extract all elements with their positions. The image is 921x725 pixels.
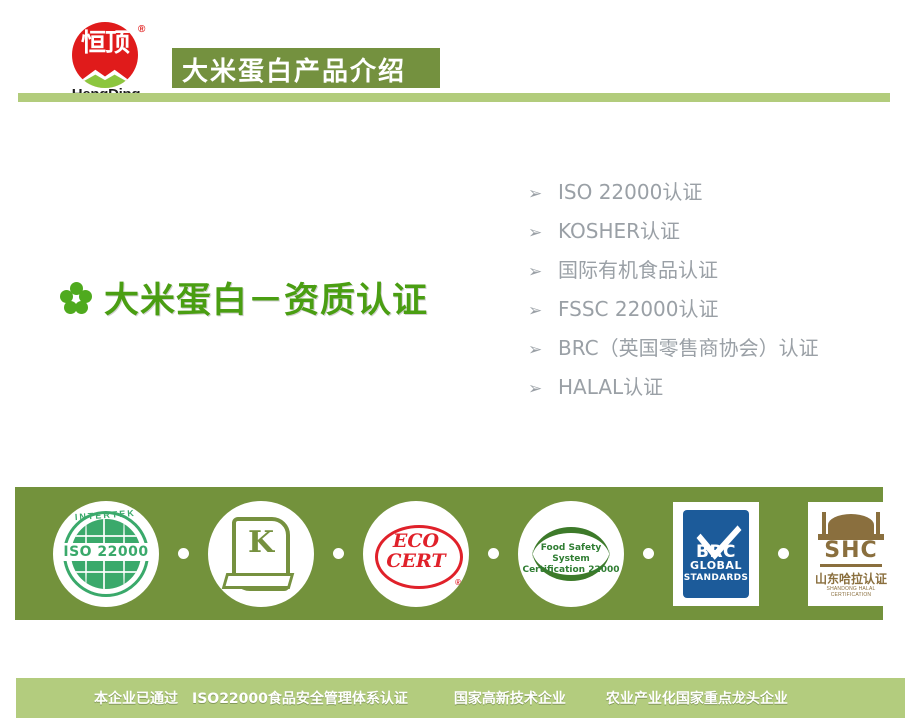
- section-heading-label: 大米蛋白－资质认证: [104, 272, 428, 323]
- brc-text: BRC GLOBAL STANDARDS: [683, 546, 749, 585]
- ecocert-line1: ECO: [363, 531, 469, 551]
- certification-list: ➢ ISO 22000认证 ➢ KOSHER认证 ➢ 国际有机食品认证 ➢ FS…: [528, 176, 819, 410]
- mosque-dome-icon: [828, 514, 874, 536]
- list-item: ➢ 国际有机食品认证: [528, 254, 819, 293]
- slide-footer: 本企业已通过 ISO22000食品安全管理体系认证 国家高新技术企业 农业产业化…: [16, 678, 905, 718]
- ecocert-line2: CERT: [363, 551, 469, 571]
- list-item: ➢ ISO 22000认证: [528, 176, 819, 215]
- registered-mark-icon: ®: [138, 24, 145, 35]
- iso-22000-badge-icon: INTERTEK ISO 22000: [53, 501, 159, 607]
- list-item: ➢ BRC（英国零售商协会）认证: [528, 332, 819, 371]
- kosher-base-bar: [222, 573, 295, 589]
- header-divider: [18, 93, 890, 102]
- fssc-line2: Certification 22000: [522, 565, 620, 576]
- minaret-left-icon: [822, 512, 826, 536]
- footer-text-1: 本企业已通过: [94, 688, 178, 708]
- list-item-label: ISO 22000认证: [558, 176, 702, 205]
- list-item: ➢ KOSHER认证: [528, 215, 819, 254]
- arrow-bullet-icon: ➢: [528, 185, 558, 202]
- minaret-right-icon: [876, 512, 880, 536]
- list-item: ➢ HALAL认证: [528, 371, 819, 410]
- ecocert-badge-icon: ECO CERT ®: [363, 501, 469, 607]
- footer-text-4: 农业产业化国家重点龙头企业: [606, 688, 788, 708]
- logo-disc: 恒顶: [72, 22, 138, 88]
- list-item-label: KOSHER认证: [558, 215, 680, 244]
- arrow-bullet-icon: ➢: [528, 263, 558, 280]
- footer-text-3: 国家高新技术企业: [454, 688, 566, 708]
- shc-english-text: SHANDONG HALAL CERTIFICATION: [808, 586, 894, 598]
- list-item: ➢ FSSC 22000认证: [528, 293, 819, 332]
- fssc-22000-badge-icon: Food Safety System Certification 22000: [518, 501, 624, 607]
- list-item-label: HALAL认证: [558, 371, 663, 400]
- badge-separator-dot: [778, 548, 789, 559]
- shc-halal-badge-icon: SHC 山东哈拉认证 SHANDONG HALAL CERTIFICATION: [808, 502, 894, 606]
- badge-separator-dot: [178, 548, 189, 559]
- iso-band: ISO 22000: [59, 543, 153, 561]
- badge-separator-dot: [488, 548, 499, 559]
- section-heading: 大米蛋白－资质认证: [60, 272, 428, 323]
- slide-header: 恒顶 ® HengDing 大米蛋白产品介绍: [0, 0, 921, 100]
- shc-letters: SHC: [808, 538, 894, 563]
- brc-line1: BRC: [683, 546, 749, 559]
- brc-badge-icon: BRC GLOBAL STANDARDS: [673, 502, 759, 606]
- arrow-bullet-icon: ➢: [528, 380, 558, 397]
- brc-line2: GLOBAL: [683, 559, 749, 572]
- fssc-text: Food Safety System Certification 22000: [522, 543, 620, 576]
- arrow-bullet-icon: ➢: [528, 341, 558, 358]
- logo-chinese-characters: 恒顶: [72, 28, 138, 58]
- registered-mark-icon: ®: [455, 578, 461, 587]
- badge-separator-dot: [643, 548, 654, 559]
- arrow-bullet-icon: ➢: [528, 302, 558, 319]
- list-item-label: BRC（英国零售商协会）认证: [558, 332, 819, 361]
- page-title: 大米蛋白产品介绍: [182, 51, 406, 88]
- list-item-label: FSSC 22000认证: [558, 293, 719, 322]
- arrow-bullet-icon: ➢: [528, 224, 558, 241]
- shc-chinese-text: 山东哈拉认证: [808, 570, 894, 587]
- brc-box: BRC GLOBAL STANDARDS: [683, 510, 749, 598]
- fssc-line1: Food Safety System: [522, 543, 620, 565]
- slide-title-box: 大米蛋白产品介绍: [172, 48, 440, 88]
- iso-main-text: ISO 22000: [63, 544, 148, 560]
- iso-arc-text: INTERTEK: [64, 507, 148, 543]
- ecocert-text: ECO CERT: [363, 531, 469, 571]
- brc-line3: STANDARDS: [683, 572, 749, 585]
- clover-icon: [60, 282, 92, 314]
- kosher-letter: K: [208, 525, 314, 560]
- kosher-badge-icon: K: [208, 501, 314, 607]
- footer-text-2: ISO22000食品安全管理体系认证: [192, 688, 408, 708]
- certification-badge-strip: INTERTEK ISO 22000 K ECO CERT ®: [15, 487, 883, 620]
- list-item-label: 国际有机食品认证: [558, 254, 718, 283]
- slide-canvas: 恒顶 ® HengDing 大米蛋白产品介绍 大米蛋白－资质认证 ➢ ISO 2…: [0, 0, 921, 725]
- company-logo: 恒顶 ® HengDing: [52, 22, 160, 94]
- badge-separator-dot: [333, 548, 344, 559]
- shc-divider: [820, 564, 882, 567]
